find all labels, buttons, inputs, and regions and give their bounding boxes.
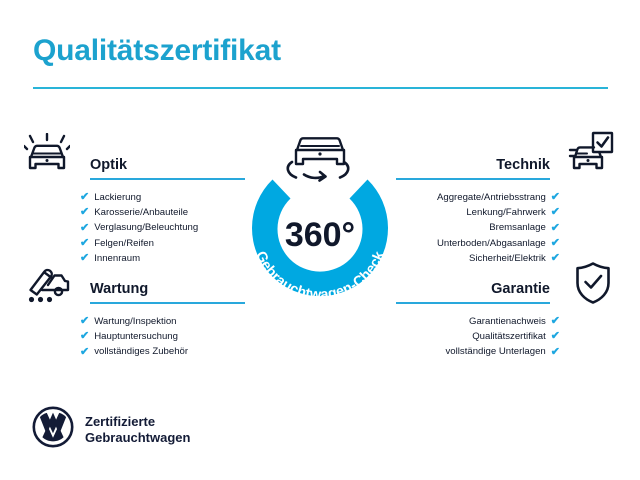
- section-divider: [396, 178, 550, 180]
- list-item: ✔Wartung/Inspektion: [80, 314, 245, 329]
- list-item: ✔Verglasung/Beleuchtung: [80, 220, 245, 235]
- list-item-label: Aggregate/Antriebsstrang: [437, 190, 546, 205]
- check-icon: ✔: [551, 238, 560, 249]
- check-icon: ✔: [551, 316, 560, 327]
- list-item-label: Verglasung/Beleuchtung: [94, 220, 198, 235]
- section-header: Technik: [396, 148, 560, 174]
- check-icon: ✔: [551, 331, 560, 342]
- list-item-label: Karosserie/Anbauteile: [94, 205, 188, 220]
- list-item: ✔vollständige Unterlagen: [396, 344, 560, 359]
- car-rotation-icon: [288, 138, 348, 180]
- car-checkbox-icon: [568, 131, 614, 180]
- list-item: ✔Karosserie/Anbauteile: [80, 205, 245, 220]
- footer-branding: ZertifizierteGebrauchtwagen: [32, 406, 190, 453]
- section-title: Garantie: [491, 281, 550, 297]
- logo-text: ZertifizierteGebrauchtwagen: [85, 414, 190, 446]
- header-divider: [33, 87, 608, 89]
- list-item: ✔Hauptuntersuchung: [80, 329, 245, 344]
- check-icon: ✔: [551, 192, 560, 203]
- list-item-label: Garantienachweis: [469, 314, 546, 329]
- list-item: ✔Felgen/Reifen: [80, 236, 245, 251]
- check-icon: ✔: [551, 253, 560, 264]
- section-item-list: ✔Garantienachweis ✔Qualitätszertifikat ✔…: [396, 314, 560, 360]
- section-technik: Technik ✔Aggregate/Antriebsstrang ✔Lenku…: [396, 148, 560, 266]
- check-icon: ✔: [551, 347, 560, 358]
- check-icon: ✔: [80, 347, 89, 358]
- check-icon: ✔: [551, 207, 560, 218]
- list-item: ✔Bremsanlage: [396, 220, 560, 235]
- certificate-page: Qualitätszertifikat: [0, 0, 640, 480]
- check-icon: ✔: [551, 223, 560, 234]
- section-divider: [90, 302, 245, 304]
- section-header: Wartung: [80, 272, 245, 298]
- list-item-label: Innenraum: [94, 251, 140, 266]
- section-optik: Optik ✔Lackierung ✔Karosserie/Anbauteile…: [80, 148, 245, 266]
- section-title: Optik: [90, 157, 127, 173]
- list-item-label: Wartung/Inspektion: [94, 314, 176, 329]
- list-item: ✔Aggregate/Antriebsstrang: [396, 190, 560, 205]
- check-icon: ✔: [80, 331, 89, 342]
- section-header: Optik: [80, 148, 245, 174]
- section-wartung: Wartung ✔Wartung/Inspektion ✔Hauptunters…: [80, 272, 245, 360]
- wrench-car-icon: [24, 263, 70, 310]
- list-item: ✔Sicherheit/Elektrik: [396, 251, 560, 266]
- list-item-label: Unterboden/Abgasanlage: [437, 236, 546, 251]
- badge-360-gebrauchtwagen-check: 360° Gebrauchtwagen-Check: [228, 118, 412, 314]
- list-item-label: Qualitätszertifikat: [472, 329, 546, 344]
- logo-line-1: Zertifizierte: [85, 414, 155, 429]
- section-title: Wartung: [90, 281, 148, 297]
- list-item-label: Felgen/Reifen: [94, 236, 154, 251]
- section-divider: [396, 302, 550, 304]
- check-icon: ✔: [80, 207, 89, 218]
- check-icon: ✔: [80, 223, 89, 234]
- check-icon: ✔: [80, 253, 89, 264]
- section-item-list: ✔Aggregate/Antriebsstrang ✔Lenkung/Fahrw…: [396, 190, 560, 266]
- list-item: ✔Innenraum: [80, 251, 245, 266]
- section-header: Garantie: [396, 272, 560, 298]
- section-title: Technik: [496, 157, 550, 173]
- list-item: ✔vollständiges Zubehör: [80, 344, 245, 359]
- list-item-label: Lackierung: [94, 190, 141, 205]
- section-garantie: Garantie ✔Garantienachweis ✔Qualitätszer…: [396, 272, 560, 360]
- list-item: ✔Qualitätszertifikat: [396, 329, 560, 344]
- list-item: ✔Lackierung: [80, 190, 245, 205]
- list-item-label: vollständige Unterlagen: [446, 344, 546, 359]
- list-item-label: Bremsanlage: [489, 220, 546, 235]
- vw-logo-icon: [32, 406, 74, 453]
- shield-check-icon: [574, 261, 612, 310]
- list-item: ✔Unterboden/Abgasanlage: [396, 236, 560, 251]
- section-item-list: ✔Wartung/Inspektion ✔Hauptuntersuchung ✔…: [80, 314, 245, 360]
- list-item-label: Sicherheit/Elektrik: [469, 251, 546, 266]
- list-item-label: Lenkung/Fahrwerk: [466, 205, 545, 220]
- list-item-label: Hauptuntersuchung: [94, 329, 178, 344]
- page-title: Qualitätszertifikat: [33, 34, 281, 68]
- badge-center-label: 360°: [285, 216, 355, 254]
- list-item: ✔Lenkung/Fahrwerk: [396, 205, 560, 220]
- check-icon: ✔: [80, 316, 89, 327]
- list-item: ✔Garantienachweis: [396, 314, 560, 329]
- check-icon: ✔: [80, 238, 89, 249]
- logo-line-2: Gebrauchtwagen: [85, 430, 190, 445]
- section-item-list: ✔Lackierung ✔Karosserie/Anbauteile ✔Verg…: [80, 190, 245, 266]
- check-icon: ✔: [80, 192, 89, 203]
- section-divider: [90, 178, 245, 180]
- car-shine-icon: [24, 133, 70, 180]
- list-item-label: vollständiges Zubehör: [94, 344, 188, 359]
